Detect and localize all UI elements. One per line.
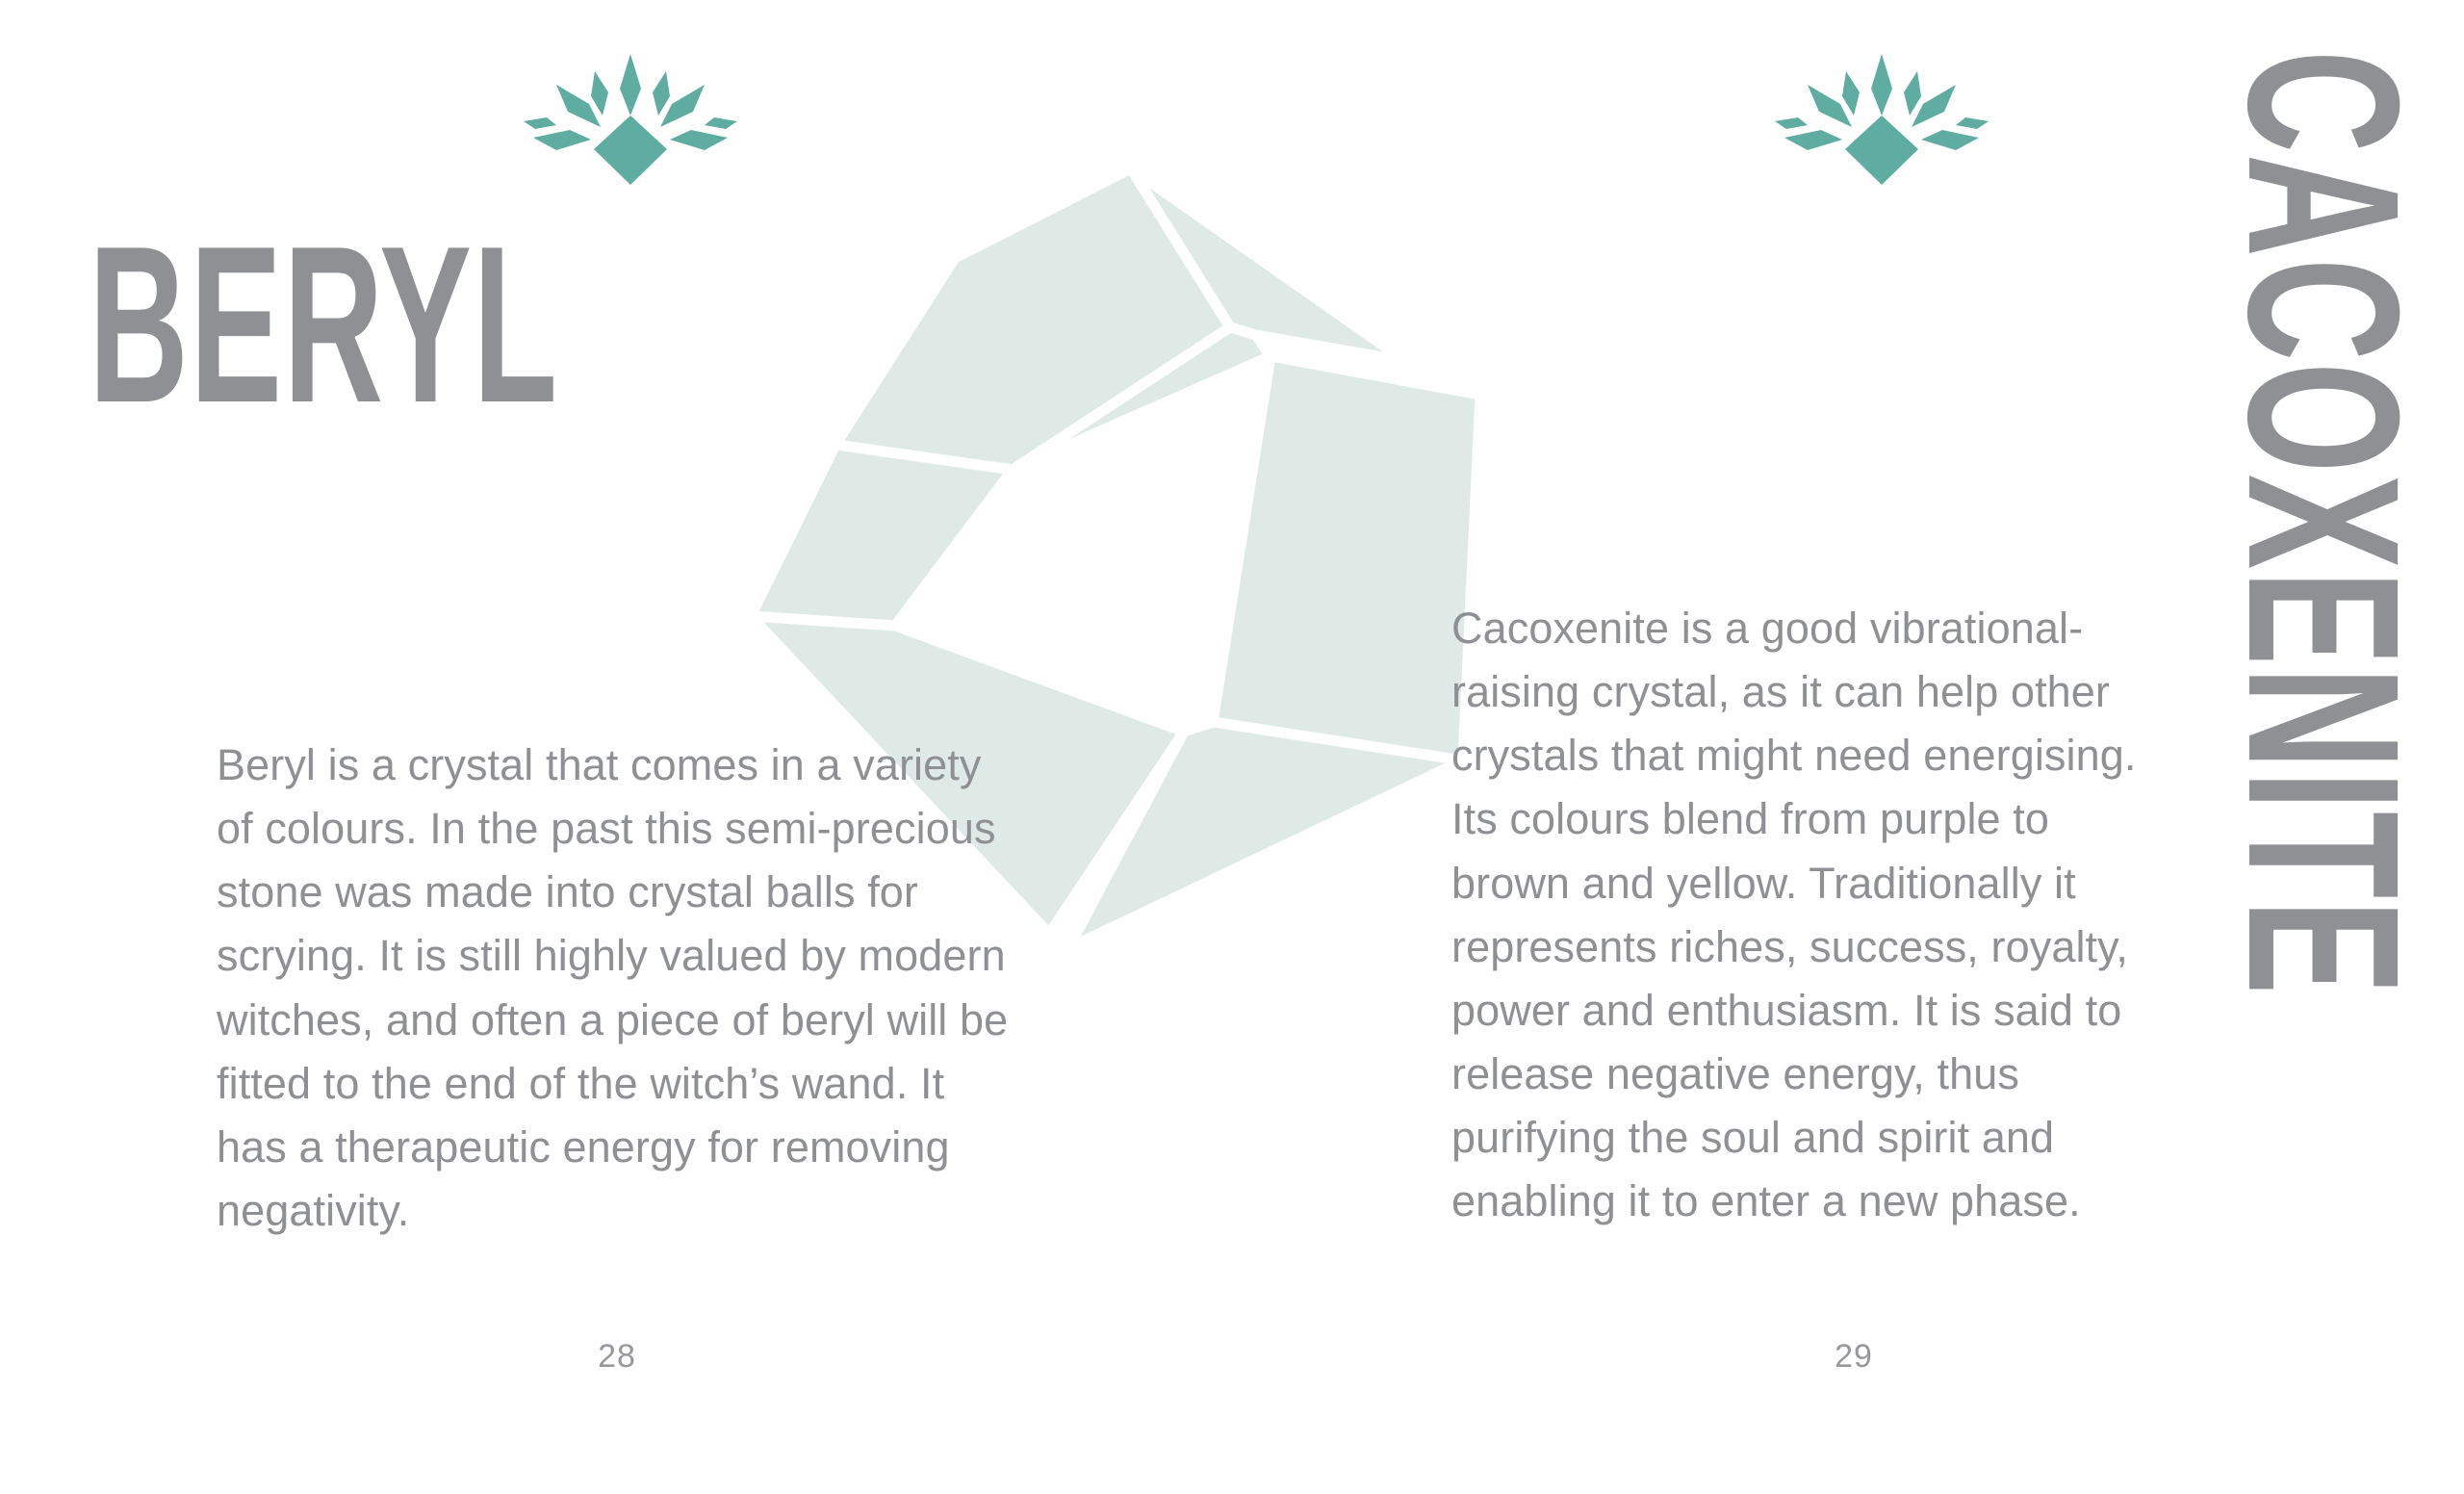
book-spread: BERYL Beryl is a crystal that comes in a… [0,0,2464,1494]
left-page-body-text: Beryl is a crystal that comes in a varie… [217,734,1015,1243]
folio-left: 28 [521,1338,713,1376]
right-page-body-text: Cacoxenite is a good vibrational-raising… [1451,597,2144,1233]
right-page-body: Cacoxenite is a good vibrational-raising… [1451,597,2144,1233]
page-title-beryl: BERYL [89,214,558,437]
page-title-cacoxenite-wrap: CACOXENITE [2183,0,2443,1088]
crystal-fan-ornament-right [1771,48,1992,193]
left-page-body: Beryl is a crystal that comes in a varie… [217,734,1015,1243]
folio-right: 29 [1758,1338,1950,1376]
crystal-fan-ornament-left [520,48,741,193]
page-title-cacoxenite: CACOXENITE [2216,50,2431,995]
